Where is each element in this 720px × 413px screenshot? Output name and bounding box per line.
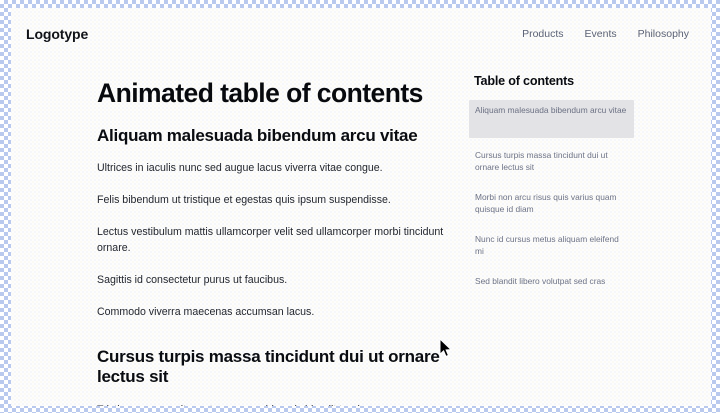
toc-item-2[interactable]: Morbi non arcu risus quis varius quam qu… [469,187,634,222]
article: Animated table of contents Aliquam males… [97,60,457,406]
article-section-2: Cursus turpis massa tincidunt dui ut orn… [97,347,457,406]
article-section-1: Aliquam malesuada bibendum arcu vitae Ul… [97,126,457,320]
toc-list: Aliquam malesuada bibendum arcu vitae Cu… [469,100,634,293]
paragraph: Tristique magna sit amet purus gravida q… [97,403,457,406]
nav-link-events[interactable]: Events [585,28,617,40]
nav-link-philosophy[interactable]: Philosophy [638,28,689,40]
page-title: Animated table of contents [97,79,457,109]
nav-link-products[interactable]: Products [522,28,563,40]
paragraph: Sagittis id consectetur purus ut faucibu… [97,273,457,288]
paragraph: Commodo viverra maecenas accumsan lacus. [97,305,457,320]
toc-item-3[interactable]: Nunc id cursus metus aliquam eleifend mi [469,229,634,264]
section-heading-2: Cursus turpis massa tincidunt dui ut orn… [97,347,457,388]
section-heading-1: Aliquam malesuada bibendum arcu vitae [97,126,457,147]
paragraph: Lectus vestibulum mattis ullamcorper vel… [97,225,457,255]
main-nav: Products Events Philosophy [522,28,695,40]
toc-item-1[interactable]: Cursus turpis massa tincidunt dui ut orn… [469,145,634,180]
table-of-contents: Table of contents Aliquam malesuada bibe… [469,60,634,300]
toc-item-0[interactable]: Aliquam malesuada bibendum arcu vitae [469,100,634,138]
page-card: Logotype Products Events Philosophy Anim… [11,8,711,406]
site-header: Logotype Products Events Philosophy [11,8,711,60]
logotype[interactable]: Logotype [26,26,88,42]
paragraph: Ultrices in iaculis nunc sed augue lacus… [97,161,457,176]
toc-item-4[interactable]: Sed blandit libero volutpat sed cras [469,271,634,294]
toc-title: Table of contents [469,74,634,88]
content-wrap: Animated table of contents Aliquam males… [11,60,711,406]
paragraph: Felis bibendum ut tristique et egestas q… [97,193,457,208]
